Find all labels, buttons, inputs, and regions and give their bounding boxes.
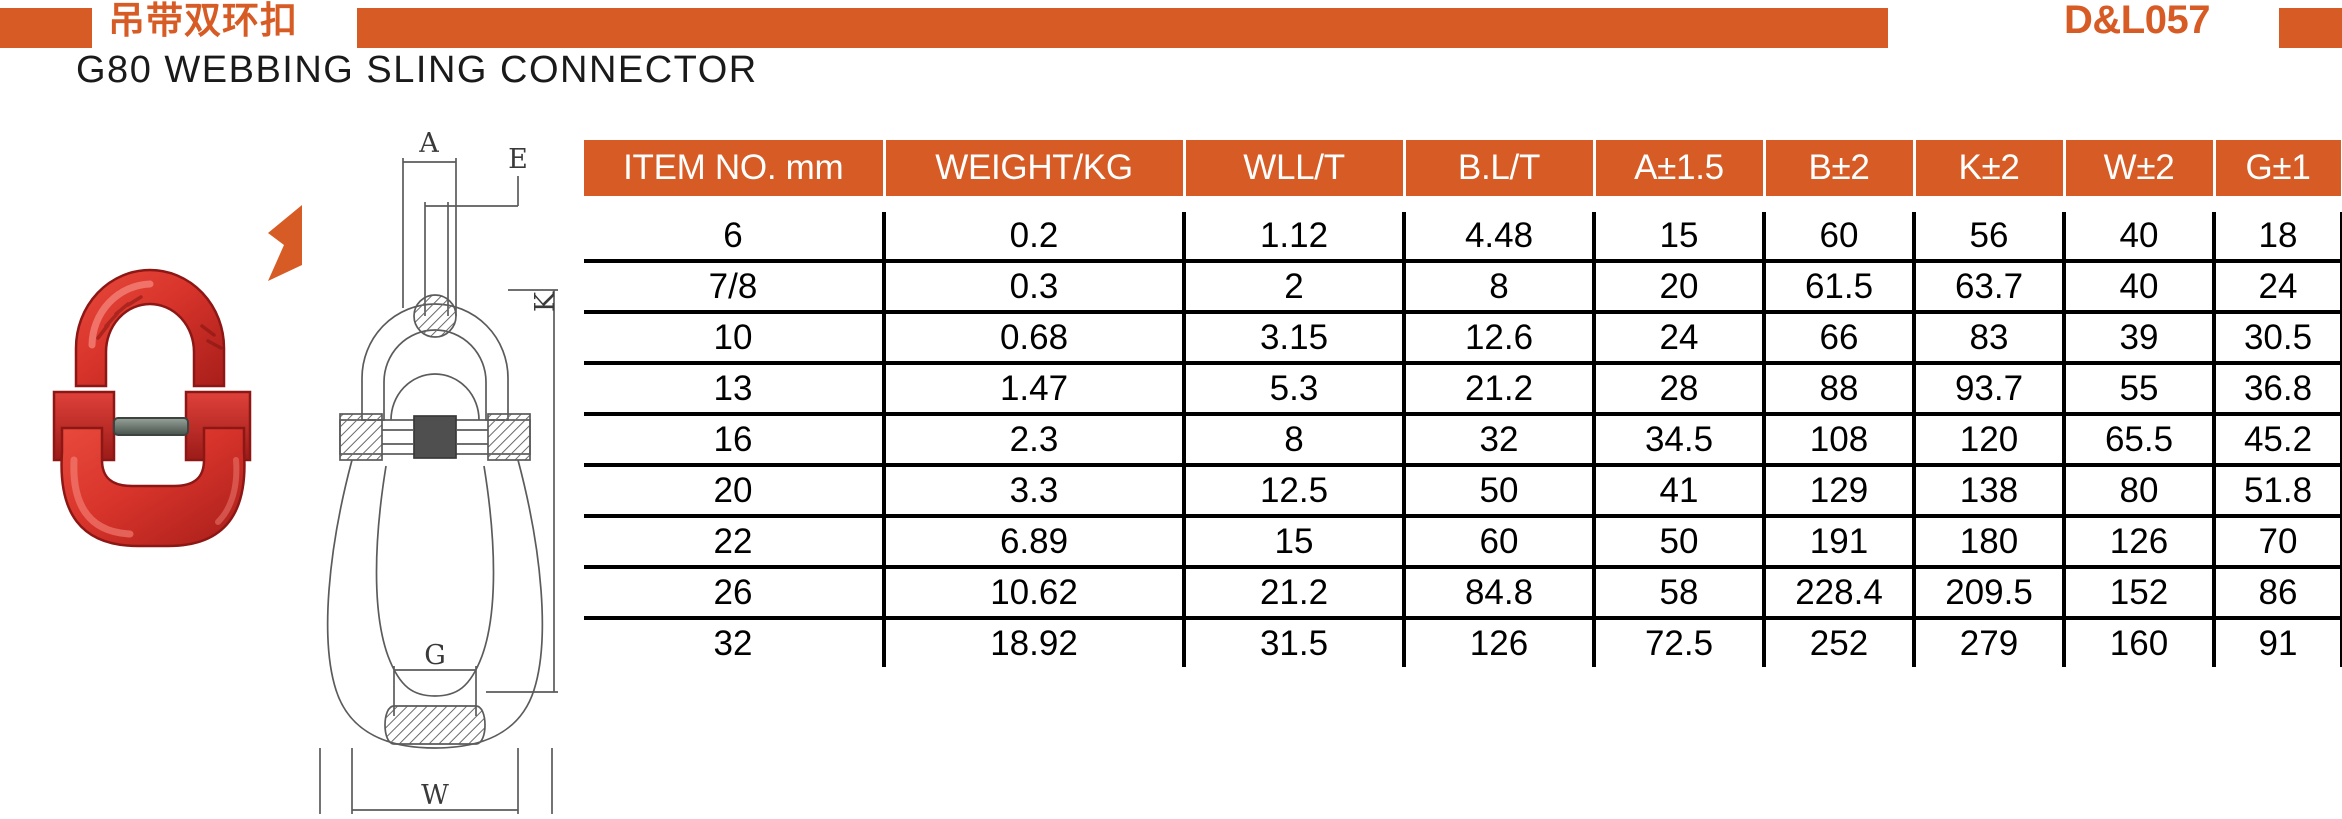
table-row: 2610.6221.284.858228.4209.51528630 [584, 567, 2342, 618]
table-cell: 228.4 [1764, 567, 1914, 618]
table-cell: 5.3 [1184, 363, 1404, 414]
header-bar-right-segment [2279, 8, 2342, 48]
table-cell: 91 [2214, 618, 2342, 667]
table-cell: 1.12 [1184, 212, 1404, 261]
table-cell: 1.47 [884, 363, 1184, 414]
table-header-row: ITEM NO. mm WEIGHT/KG WLL/T B.L/T A±1.5 … [584, 140, 2342, 196]
table-cell: 58 [1594, 567, 1764, 618]
table-cell: 160 [2064, 618, 2214, 667]
table-cell: 93.7 [1914, 363, 2064, 414]
table-cell: 16 [584, 414, 884, 465]
table-body: 60.21.124.48156056401877/80.3282061.563.… [584, 196, 2342, 667]
table-cell: 4.48 [1404, 212, 1594, 261]
table-cell: 10 [584, 312, 884, 363]
header-bar-left-segment [0, 8, 92, 48]
table-cell: 40 [2064, 261, 2214, 312]
connecting-pin [114, 418, 188, 435]
table-cell: 120 [1914, 414, 2064, 465]
column-header-weight: WEIGHT/KG [884, 140, 1184, 196]
table-cell: 0.3 [884, 261, 1184, 312]
table-row: 7/80.3282061.563.740249.5 [584, 261, 2342, 312]
table-cell: 60 [1764, 212, 1914, 261]
table-cell: 2.3 [884, 414, 1184, 465]
table-cell: 24 [2214, 261, 2342, 312]
table-cell: 70 [2214, 516, 2342, 567]
table-cell: 30.5 [2214, 312, 2342, 363]
table-cell: 129 [1764, 465, 1914, 516]
table-cell: 21.2 [1404, 363, 1594, 414]
table-cell: 55 [2064, 363, 2214, 414]
table-cell: 28 [1594, 363, 1764, 414]
table-cell: 7/8 [584, 261, 884, 312]
dimension-label-a: A [418, 128, 439, 159]
dimension-label-w: W [421, 780, 449, 811]
table-cell: 41 [1594, 465, 1764, 516]
table-cell: 3.15 [1184, 312, 1404, 363]
table-cell: 32 [584, 618, 884, 667]
table-cell: 45.2 [2214, 414, 2342, 465]
table-cell: 39 [2064, 312, 2214, 363]
table-cell: 0.68 [884, 312, 1184, 363]
table-cell: 86 [2214, 567, 2342, 618]
product-code: D&L057 [2064, 0, 2210, 40]
table-cell: 108 [1764, 414, 1914, 465]
column-header-k: K±2 [1914, 140, 2064, 196]
table-row: 203.312.550411291388051.823 [584, 465, 2342, 516]
table-cell: 18.92 [884, 618, 1184, 667]
table-cell: 24 [1594, 312, 1764, 363]
specification-table: ITEM NO. mm WEIGHT/KG WLL/T B.L/T A±1.5 … [584, 140, 2342, 667]
column-header-wll: WLL/T [1184, 140, 1404, 196]
table-cell: 20 [584, 465, 884, 516]
table-spacer-row [584, 196, 2342, 212]
column-header-b: B±2 [1764, 140, 1914, 196]
table-cell: 88 [1764, 363, 1914, 414]
specification-table-container: ITEM NO. mm WEIGHT/KG WLL/T B.L/T A±1.5 … [584, 140, 2342, 667]
dimension-label-e: E [508, 144, 528, 175]
table-cell: 18 [2214, 212, 2342, 261]
table-cell: 20 [1594, 261, 1764, 312]
table-cell: 12.6 [1404, 312, 1594, 363]
header-bar [0, 8, 2342, 48]
table-row: 3218.9231.512672.52522791609155 [584, 618, 2342, 667]
table-cell: 60 [1404, 516, 1594, 567]
table-row: 60.21.124.4815605640187 [584, 212, 2342, 261]
table-cell: 50 [1594, 516, 1764, 567]
table-cell: 80 [2064, 465, 2214, 516]
product-photo [18, 160, 288, 560]
table-cell: 84.8 [1404, 567, 1594, 618]
column-header-w: W±2 [2064, 140, 2214, 196]
table-cell: 40 [2064, 212, 2214, 261]
table-cell: 72.5 [1594, 618, 1764, 667]
table-cell: 191 [1764, 516, 1914, 567]
column-header-bl: B.L/T [1404, 140, 1594, 196]
table-cell: 22 [584, 516, 884, 567]
chinese-product-title: 吊带双环扣 [108, 1, 298, 41]
technical-drawing: A E G W B K [290, 120, 580, 814]
table-cell: 36.8 [2214, 363, 2342, 414]
table-cell: 8 [1184, 414, 1404, 465]
column-header-item-no: ITEM NO. mm [584, 140, 884, 196]
column-header-g: G±1 [2214, 140, 2342, 196]
table-cell: 0.2 [884, 212, 1184, 261]
table-cell: 13 [584, 363, 884, 414]
table-cell: 63.7 [1914, 261, 2064, 312]
table-cell: 3.3 [884, 465, 1184, 516]
table-cell: 6 [584, 212, 884, 261]
table-row: 100.683.1512.62466833930.511 [584, 312, 2342, 363]
table-cell: 66 [1764, 312, 1914, 363]
dimension-label-k: K [530, 291, 561, 312]
table-cell: 32 [1404, 414, 1594, 465]
table-cell: 12.5 [1184, 465, 1404, 516]
table-cell: 83 [1914, 312, 2064, 363]
table-cell: 51.8 [2214, 465, 2342, 516]
table-cell: 31.5 [1184, 618, 1404, 667]
table-row: 226.891560501911801267026 [584, 516, 2342, 567]
table-cell: 180 [1914, 516, 2064, 567]
table-cell: 252 [1764, 618, 1914, 667]
table-cell: 6.89 [884, 516, 1184, 567]
table-cell: 15 [1184, 516, 1404, 567]
table-cell: 15 [1594, 212, 1764, 261]
table-cell: 209.5 [1914, 567, 2064, 618]
table-cell: 138 [1914, 465, 2064, 516]
table-cell: 65.5 [2064, 414, 2214, 465]
table-row: 131.475.321.2288893.75536.816.5 [584, 363, 2342, 414]
table-cell: 10.62 [884, 567, 1184, 618]
triangular-link [62, 428, 245, 546]
table-cell: 8 [1404, 261, 1594, 312]
table-cell: 126 [2064, 516, 2214, 567]
table-cell: 126 [1404, 618, 1594, 667]
table-cell: 2 [1184, 261, 1404, 312]
header-bar-middle-segment [357, 8, 1888, 48]
table-cell: 21.2 [1184, 567, 1404, 618]
dimension-label-g: G [424, 640, 446, 671]
table-cell: 56 [1914, 212, 2064, 261]
column-header-a: A±1.5 [1594, 140, 1764, 196]
table-cell: 279 [1914, 618, 2064, 667]
table-row: 162.383234.510812065.545.219.8 [584, 414, 2342, 465]
table-cell: 34.5 [1594, 414, 1764, 465]
english-product-title: G80 WEBBING SLING CONNECTOR [76, 48, 758, 92]
table-cell: 50 [1404, 465, 1594, 516]
table-cell: 152 [2064, 567, 2214, 618]
table-cell: 26 [584, 567, 884, 618]
table-cell: 61.5 [1764, 261, 1914, 312]
